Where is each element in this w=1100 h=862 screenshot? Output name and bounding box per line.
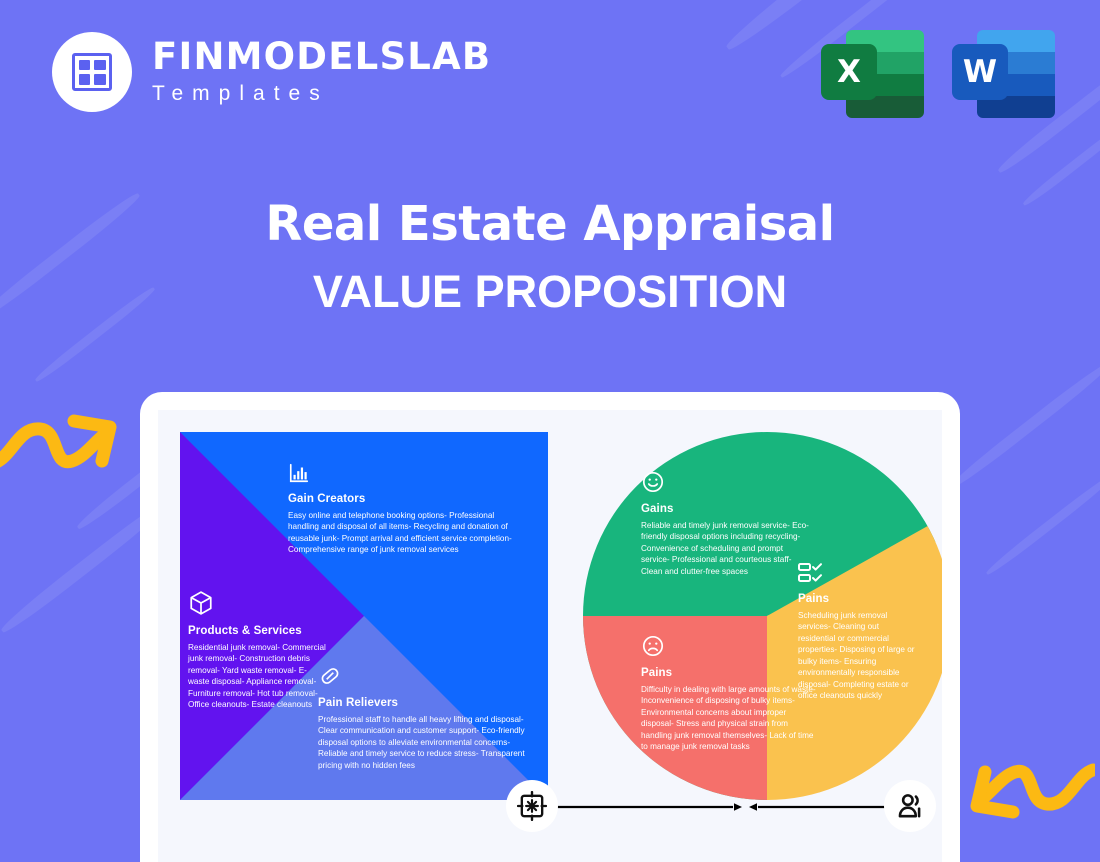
pains-red-body: Difficulty in dealing with large amounts… bbox=[641, 684, 816, 753]
page-title-block: Real Estate Appraisal VALUE PROPOSITION bbox=[0, 196, 1100, 318]
gains-block: Gains Reliable and timely junk removal s… bbox=[641, 470, 811, 577]
value-map-icon bbox=[517, 791, 547, 821]
page-header: FINMODELSLAB Templates X W bbox=[0, 0, 1100, 150]
customer-profile-circle: Gains Reliable and timely junk removal s… bbox=[583, 432, 942, 800]
logo-wordmark: FINMODELSLAB bbox=[152, 38, 491, 75]
pains-red-title: Pains bbox=[641, 667, 816, 679]
page-subtitle: VALUE PROPOSITION bbox=[0, 266, 1100, 318]
products-services-body: Residential junk removal- Commercial jun… bbox=[188, 642, 328, 711]
pain-relievers-body: Professional staff to handle all heavy l… bbox=[318, 714, 533, 771]
word-icon-letter: W bbox=[952, 44, 1008, 100]
logo-badge bbox=[52, 32, 132, 112]
excel-icon[interactable]: X bbox=[821, 26, 924, 118]
value-map-square: Gain Creators Easy online and telephone … bbox=[180, 432, 548, 800]
decorative-arrow-up-right bbox=[0, 405, 122, 485]
gain-creators-title: Gain Creators bbox=[288, 493, 516, 505]
pains-yellow-block: Pains Scheduling junk removal services- … bbox=[798, 562, 918, 702]
word-icon[interactable]: W bbox=[952, 26, 1055, 118]
laptop-screen: Gain Creators Easy online and telephone … bbox=[158, 410, 942, 862]
gains-body: Reliable and timely junk removal service… bbox=[641, 520, 811, 577]
package-box-icon bbox=[188, 590, 214, 616]
gains-title: Gains bbox=[641, 503, 811, 515]
grid-icon bbox=[72, 53, 112, 91]
pain-relievers-block: Pain Relievers Professional staff to han… bbox=[318, 664, 533, 771]
gain-creators-body: Easy online and telephone booking option… bbox=[288, 510, 516, 556]
gain-creators-block: Gain Creators Easy online and telephone … bbox=[288, 462, 516, 556]
pains-red-block: Pains Difficulty in dealing with large a… bbox=[641, 634, 816, 753]
fit-connector-arrows bbox=[548, 803, 888, 811]
logo-tagline: Templates bbox=[152, 82, 491, 106]
pains-yellow-title: Pains bbox=[798, 593, 918, 605]
page-title: Real Estate Appraisal bbox=[0, 196, 1100, 252]
smiley-face-icon bbox=[641, 470, 665, 494]
pain-relievers-title: Pain Relievers bbox=[318, 697, 533, 709]
brand-logo[interactable]: FINMODELSLAB Templates bbox=[52, 32, 491, 112]
excel-icon-letter: X bbox=[821, 44, 877, 100]
office-format-icons: X W bbox=[821, 26, 1055, 118]
pains-yellow-body: Scheduling junk removal services- Cleani… bbox=[798, 610, 918, 702]
products-services-title: Products & Services bbox=[188, 625, 328, 637]
value-map-badge[interactable] bbox=[506, 780, 558, 832]
pill-capsule-icon bbox=[318, 664, 342, 688]
decorative-arrow-down-left bbox=[965, 748, 1095, 828]
sad-face-icon bbox=[641, 634, 665, 658]
customer-profile-badge[interactable] bbox=[884, 780, 936, 832]
bar-chart-icon bbox=[288, 462, 310, 484]
customer-profile-icon bbox=[895, 791, 925, 821]
checklist-icon bbox=[798, 562, 824, 584]
laptop-mockup: Gain Creators Easy online and telephone … bbox=[140, 392, 960, 862]
products-services-block: Products & Services Residential junk rem… bbox=[188, 590, 328, 711]
